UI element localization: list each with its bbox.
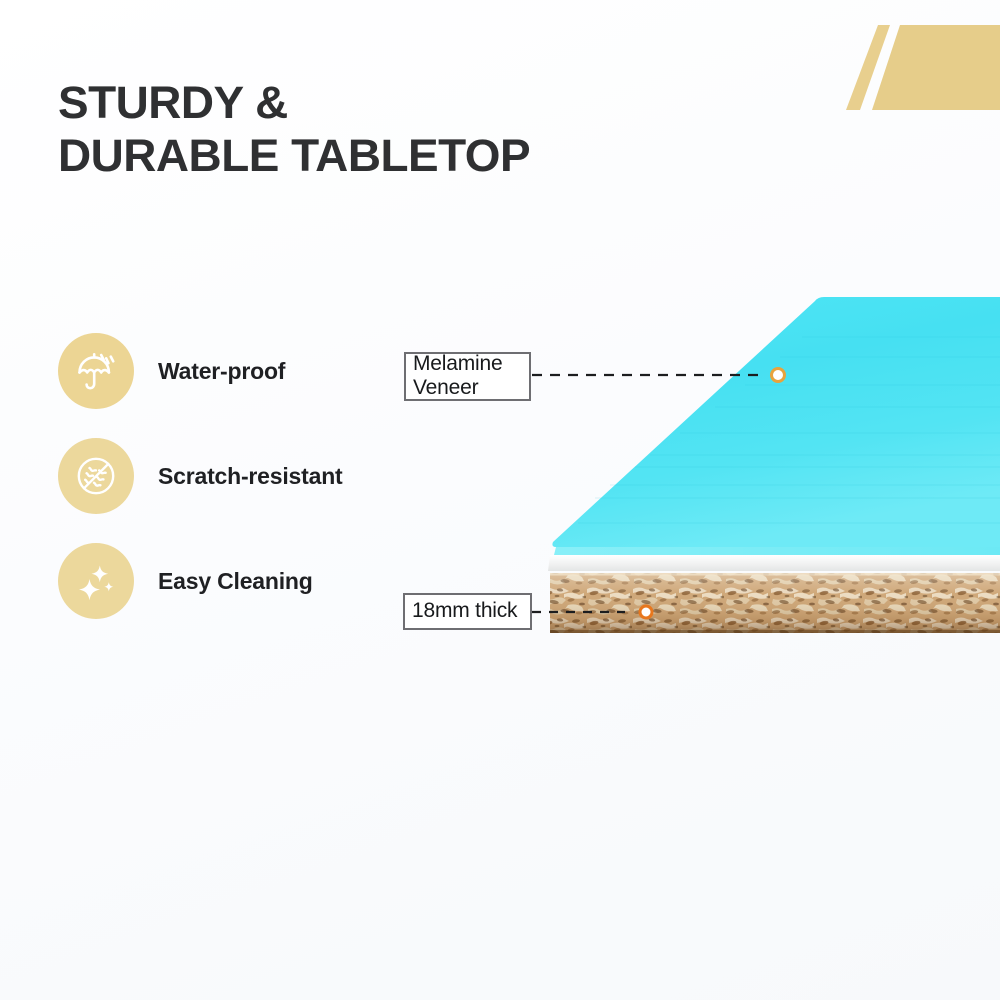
feature-item-water-proof: Water-proof — [58, 332, 343, 410]
umbrella-rain-icon — [72, 347, 120, 395]
white-core-edge — [548, 555, 1000, 571]
callout-thickness-line-1: 18mm thick — [412, 599, 523, 623]
particleboard-edge — [550, 573, 1000, 633]
page-title-line-1: STURDY & — [58, 76, 690, 129]
corner-decoration — [820, 0, 1000, 220]
veneer-front-lip — [554, 547, 1000, 555]
tabletop-cross-section — [540, 285, 1000, 645]
umbrella-rain-icon-badge — [58, 333, 134, 409]
feature-item-scratch-resistant: Scratch-resistant — [58, 437, 343, 515]
gold-thin-stripe — [846, 25, 890, 110]
callout-melamine-veneer: Melamine Veneer — [404, 352, 531, 401]
sparkle-icon-badge — [58, 543, 134, 619]
gold-wide-stripe — [872, 25, 1000, 110]
melamine-veneer-surface — [552, 297, 1000, 547]
feature-label-water-proof: Water-proof — [158, 358, 285, 385]
feature-list: Water-proof Scratch-resis — [58, 332, 343, 647]
infographic-canvas: STURDY & DURABLE TABLETOP Wat — [0, 0, 1000, 1000]
callout-thickness: 18mm thick — [403, 593, 532, 630]
page-title-line-2: DURABLE TABLETOP — [58, 129, 690, 182]
no-scratch-icon — [72, 452, 120, 500]
callout-melamine-veneer-line-1: Melamine — [413, 352, 522, 376]
page-title: STURDY & DURABLE TABLETOP — [58, 76, 678, 182]
sparkle-icon — [72, 557, 120, 605]
feature-item-easy-cleaning: Easy Cleaning — [58, 542, 343, 620]
no-scratch-icon-badge — [58, 438, 134, 514]
feature-label-scratch-resistant: Scratch-resistant — [158, 463, 343, 490]
callout-melamine-veneer-line-2: Veneer — [413, 376, 522, 400]
feature-label-easy-cleaning: Easy Cleaning — [158, 568, 313, 595]
